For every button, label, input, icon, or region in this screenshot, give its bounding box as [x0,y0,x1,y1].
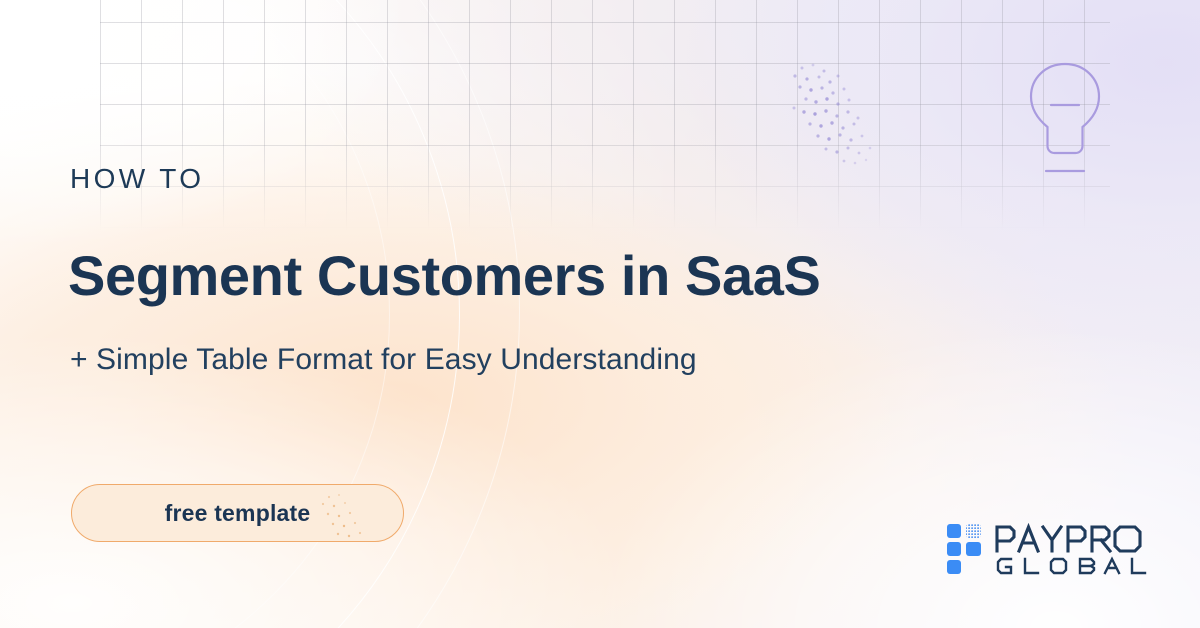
eyebrow-label: HOW TO [70,163,204,195]
free-template-badge[interactable]: free template [71,484,404,542]
page-title: Segment Customers in SaaS [68,243,820,308]
lightbulb-icon [1024,58,1106,188]
promo-banner: HOW TO Segment Customers in SaaS + Simpl… [0,0,1200,628]
paypro-squares-icon [947,524,983,574]
free-template-badge-label: free template [72,485,403,541]
paypro-global-wordmark [994,523,1152,575]
subtitle: + Simple Table Format for Easy Understan… [70,343,697,377]
paypro-global-logo[interactable] [947,521,1152,577]
content-block: HOW TO Segment Customers in SaaS + Simpl… [70,0,1030,628]
